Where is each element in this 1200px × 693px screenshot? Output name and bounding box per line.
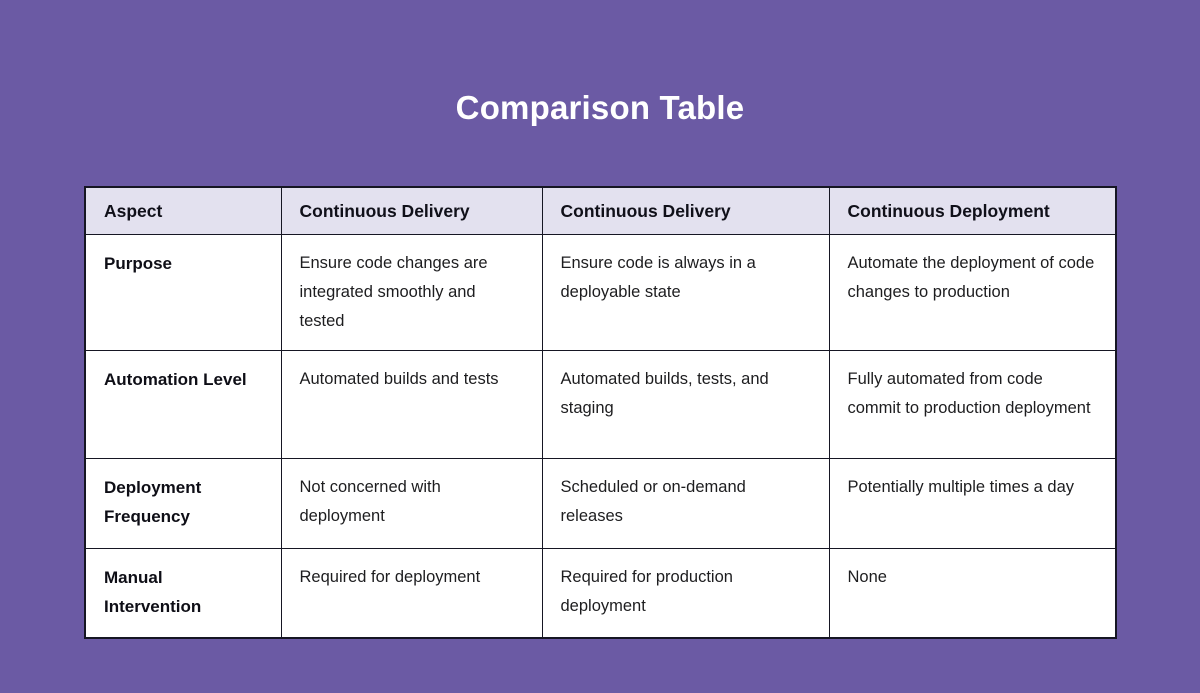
- column-header-aspect: Aspect: [85, 187, 281, 235]
- cell-manual-intervention-continuous-delivery-1: Required for deployment: [281, 549, 542, 638]
- table-body: Purpose Ensure code changes are integrat…: [85, 235, 1116, 638]
- page-title: Comparison Table: [0, 86, 1200, 130]
- table-row: Automation Level Automated builds and te…: [85, 351, 1116, 459]
- comparison-table-page: Comparison Table Aspect Continuous Deliv…: [0, 0, 1200, 693]
- cell-purpose-continuous-deployment: Automate the deployment of code changes …: [829, 235, 1116, 351]
- column-header-continuous-delivery-2: Continuous Delivery: [542, 187, 829, 235]
- table-header: Aspect Continuous Delivery Continuous De…: [85, 187, 1116, 235]
- row-label-deployment-frequency: Deployment Frequency: [85, 459, 281, 549]
- cell-manual-intervention-continuous-deployment: None: [829, 549, 1116, 638]
- cell-automation-level-continuous-deployment: Fully automated from code commit to prod…: [829, 351, 1116, 459]
- cell-automation-level-continuous-delivery-1: Automated builds and tests: [281, 351, 542, 459]
- comparison-table: Aspect Continuous Delivery Continuous De…: [84, 186, 1117, 639]
- cell-manual-intervention-continuous-delivery-2: Required for production deployment: [542, 549, 829, 638]
- comparison-table-container: Aspect Continuous Delivery Continuous De…: [84, 186, 1115, 639]
- row-label-automation-level: Automation Level: [85, 351, 281, 459]
- column-header-continuous-deployment: Continuous Deployment: [829, 187, 1116, 235]
- table-header-row: Aspect Continuous Delivery Continuous De…: [85, 187, 1116, 235]
- table-row: Manual Intervention Required for deploym…: [85, 549, 1116, 638]
- cell-deployment-frequency-continuous-delivery-1: Not concerned with deployment: [281, 459, 542, 549]
- column-header-continuous-delivery-1: Continuous Delivery: [281, 187, 542, 235]
- table-row: Deployment Frequency Not concerned with …: [85, 459, 1116, 549]
- cell-deployment-frequency-continuous-delivery-2: Scheduled or on-demand releases: [542, 459, 829, 549]
- cell-automation-level-continuous-delivery-2: Automated builds, tests, and staging: [542, 351, 829, 459]
- cell-purpose-continuous-delivery-2: Ensure code is always in a deployable st…: [542, 235, 829, 351]
- cell-deployment-frequency-continuous-deployment: Potentially multiple times a day: [829, 459, 1116, 549]
- cell-purpose-continuous-delivery-1: Ensure code changes are integrated smoot…: [281, 235, 542, 351]
- table-row: Purpose Ensure code changes are integrat…: [85, 235, 1116, 351]
- row-label-manual-intervention: Manual Intervention: [85, 549, 281, 638]
- row-label-purpose: Purpose: [85, 235, 281, 351]
